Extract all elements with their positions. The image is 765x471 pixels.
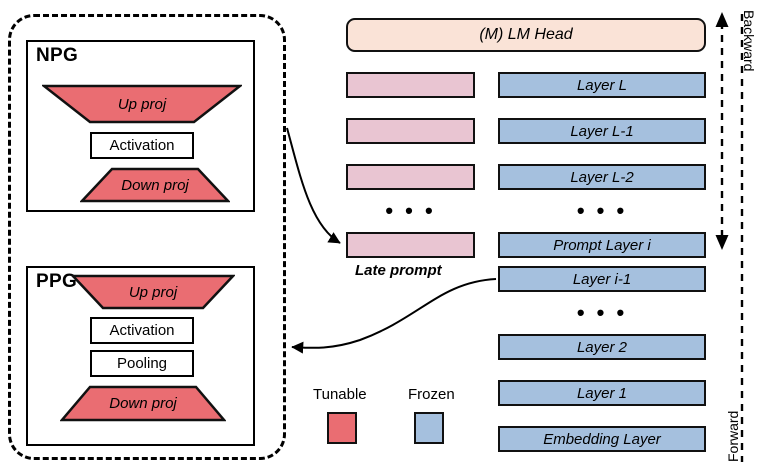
npg-down-proj-label: Down proj — [121, 177, 189, 194]
npg-to-prompt-connector — [287, 128, 340, 243]
ppg-pooling-block: Pooling — [90, 350, 194, 377]
diagram-canvas: NPG Up proj Activation Down proj PPG Up … — [0, 0, 765, 471]
ppg-box: PPG Up proj Activation Pooling Down proj — [26, 266, 255, 446]
prompt-bar-late-prompt — [346, 232, 475, 258]
legend-label-frozen: Frozen — [408, 386, 455, 403]
layer-bar-layer-L: Layer L — [498, 72, 706, 98]
lm-head-label: (M) LM Head — [479, 26, 572, 44]
layer-bar-embedding-layer: Embedding Layer — [498, 426, 706, 452]
ppg-up-proj-block: Up proj — [71, 274, 235, 310]
ppg-down-proj-label: Down proj — [109, 395, 177, 412]
layer-bar-layer-i-1: Layer i-1 — [498, 266, 706, 292]
lm-head-bar: (M) LM Head — [346, 18, 706, 52]
ppg-up-proj-label: Up proj — [129, 284, 177, 301]
ppg-down-proj-block: Down proj — [60, 385, 226, 422]
npg-title: NPG — [36, 46, 78, 65]
layer-bar-layer-L-2: Layer L-2 — [498, 164, 706, 190]
layer-bar-label: Layer 2 — [577, 339, 627, 356]
backward-arrow-head-down — [716, 235, 729, 250]
prompt-bar-layer-L — [346, 72, 475, 98]
layer-bar-label: Layer L-1 — [570, 123, 633, 140]
legend-label-tunable: Tunable — [313, 386, 367, 403]
prompt-bar-layer-L-1 — [346, 118, 475, 144]
backward-arrow-head-up — [716, 12, 729, 27]
ppg-activation-block: Activation — [90, 317, 194, 344]
layer-to-ppg-connector — [292, 279, 496, 348]
npg-up-proj-label: Up proj — [118, 96, 166, 113]
layer-bar-layer-2: Layer 2 — [498, 334, 706, 360]
npg-activation-block: Activation — [90, 132, 194, 159]
layer-bar-label: Prompt Layer i — [553, 237, 651, 254]
backward-label: Backward — [741, 10, 757, 71]
layer-column-ellipsis-upper: • • • — [498, 200, 706, 222]
legend-swatch-tunable — [327, 412, 357, 444]
ppg-activation-label: Activation — [109, 323, 174, 338]
layer-bar-label: Layer 1 — [577, 385, 627, 402]
layer-bar-label: Layer i-1 — [573, 271, 631, 288]
forward-label: Forward — [725, 411, 741, 462]
npg-up-proj-block: Up proj — [42, 84, 242, 124]
npg-down-proj-block: Down proj — [80, 167, 230, 203]
layer-bar-label: Layer L — [577, 77, 627, 94]
layer-bar-label: Embedding Layer — [543, 431, 661, 448]
layer-column-ellipsis-lower: • • • — [498, 302, 706, 324]
layer-bar-layer-L-1: Layer L-1 — [498, 118, 706, 144]
layer-bar-prompt-layer-i: Prompt Layer i — [498, 232, 706, 258]
npg-activation-label: Activation — [109, 138, 174, 153]
legend-swatch-frozen — [414, 412, 444, 444]
npg-box: NPG Up proj Activation Down proj — [26, 40, 255, 212]
prompt-bar-layer-L-2 — [346, 164, 475, 190]
layer-bar-layer-1: Layer 1 — [498, 380, 706, 406]
layer-bar-label: Layer L-2 — [570, 169, 633, 186]
late-prompt-label: Late prompt — [355, 262, 442, 279]
ppg-pooling-label: Pooling — [117, 356, 167, 371]
prompt-column-ellipsis-upper: • • • — [346, 200, 475, 222]
